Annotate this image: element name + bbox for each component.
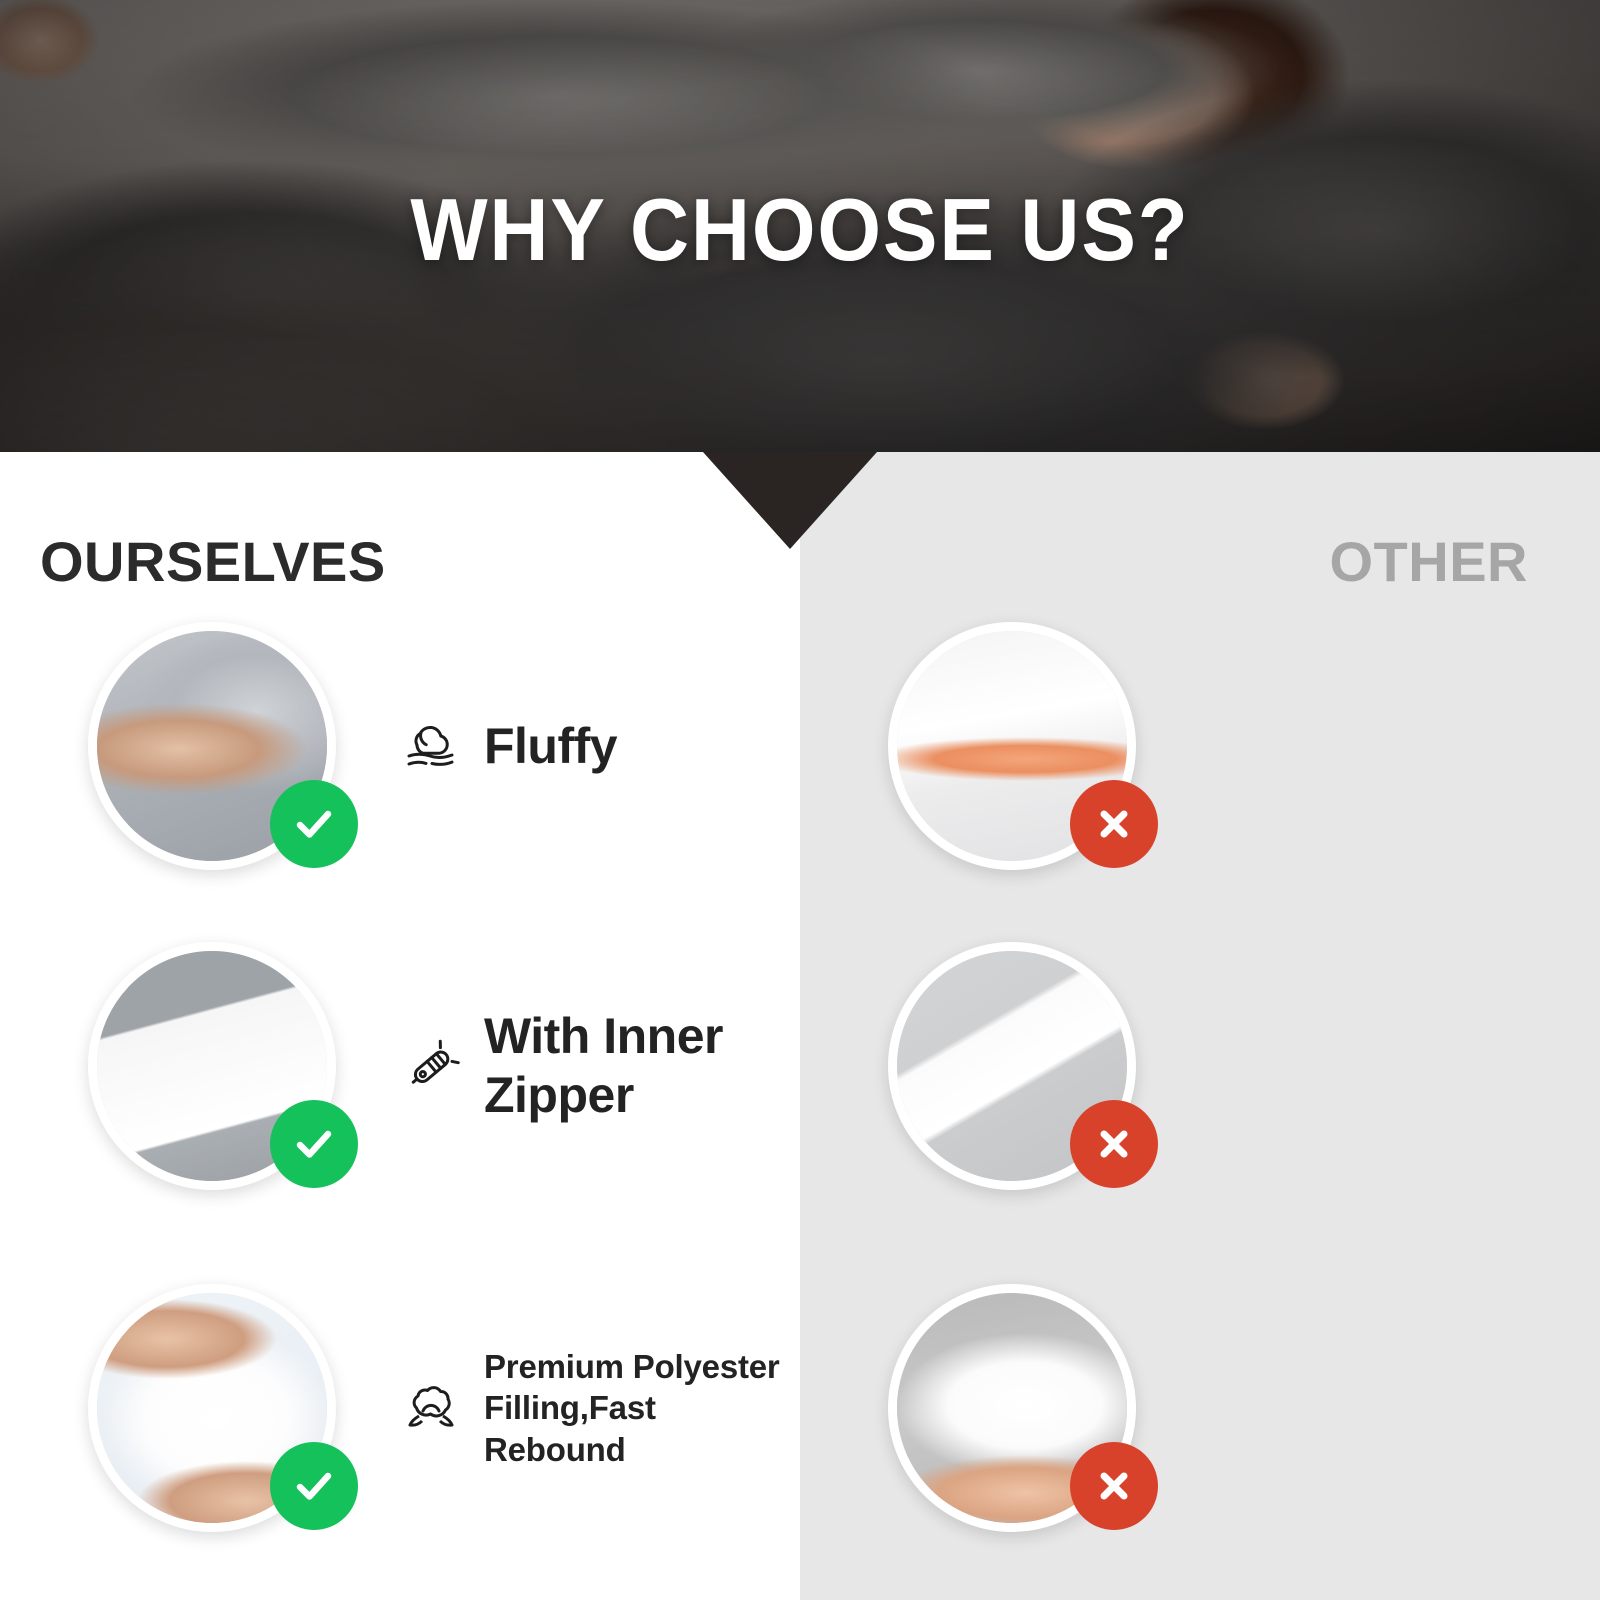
zipper-icon [400,1035,462,1097]
feature-label: Fluffy [484,717,617,776]
thumbnail-wrap [88,942,336,1190]
status-badge-no [1070,780,1158,868]
feature-label-block: Fluffy [400,622,617,870]
feature-row-ourselves-filling: Premium Polyester Filling,Fast Rebound [0,1284,800,1544]
feature-row-ourselves-zipper: With Inner Zipper [0,942,800,1202]
hero-banner: WHY CHOOSE US? [0,0,1600,452]
heading-other: OTHER [1330,534,1529,590]
cloud-wind-icon [400,715,462,777]
feature-label-block: With Inner Zipper [400,942,800,1190]
status-badge-no [1070,1100,1158,1188]
feature-label: Premium Polyester Filling,Fast Rebound [484,1346,800,1470]
cloud-puff-icon [400,1377,462,1439]
feature-label: With Inner Zipper [484,1007,800,1125]
panel-ourselves: OURSELVES [0,452,800,1600]
heading-ourselves: OURSELVES [40,534,386,590]
page-title: WHY CHOOSE US? [56,186,1544,274]
feature-row-ourselves-fluffy: Fluffy [0,622,800,882]
feature-label-block: Premium Polyester Filling,Fast Rebound [400,1284,800,1532]
status-badge-yes [270,1100,358,1188]
section-divider-notch [703,452,877,549]
thumbnail-wrap [888,942,1136,1190]
infographic-page: WHY CHOOSE US? OURSELVES [0,0,1600,1600]
status-badge-yes [270,780,358,868]
thumbnail-wrap [88,622,336,870]
status-badge-yes [270,1442,358,1530]
comparison-section: OURSELVES [0,452,1600,1600]
feature-row-other-filling: Ordinary Filling Does not Rebound [800,1284,1600,1544]
feature-row-other-flat: Flat [800,622,1600,882]
status-badge-no [1070,1442,1158,1530]
feature-row-other-zipper: No inner zipper [800,942,1600,1202]
thumbnail-wrap [88,1284,336,1532]
thumbnail-wrap [888,1284,1136,1532]
thumbnail-wrap [888,622,1136,870]
